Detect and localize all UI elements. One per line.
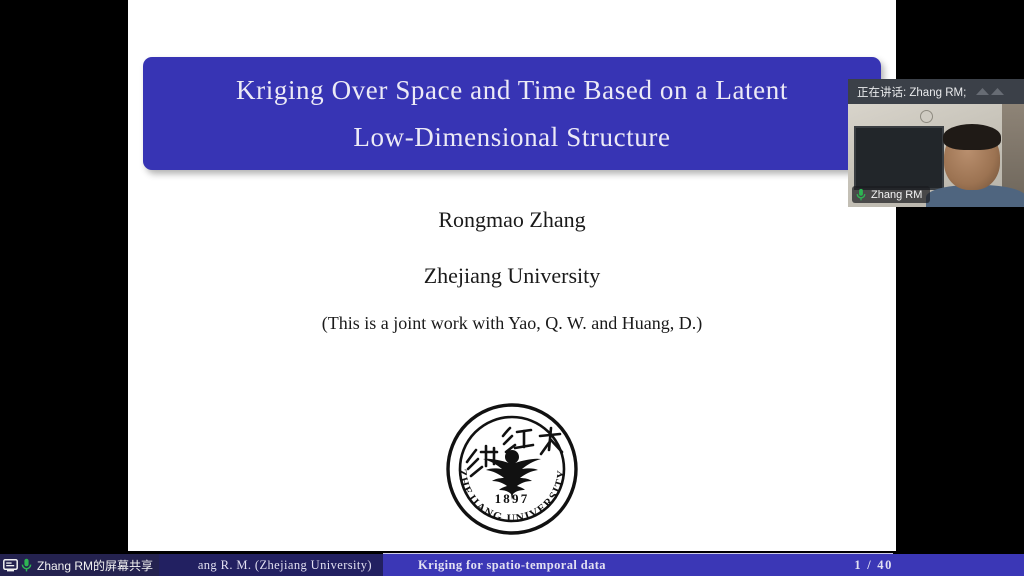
logo-year: 1897 bbox=[495, 491, 530, 506]
microphone-icon bbox=[21, 558, 32, 572]
chevron-collapse-icon[interactable] bbox=[974, 85, 1008, 98]
slide-affiliation: Zhejiang University bbox=[128, 263, 896, 289]
screen-share-banner[interactable]: Zhang RM的屏幕共享 bbox=[0, 554, 159, 576]
slide-title-line-2: Low-Dimensional Structure bbox=[353, 114, 670, 161]
footer-page-separator: / bbox=[867, 558, 872, 573]
whiteboard bbox=[854, 126, 944, 190]
participant-name-badge: Zhang RM bbox=[852, 186, 930, 203]
microphone-icon bbox=[856, 188, 866, 201]
slide-title-banner: Kriging Over Space and Time Based on a L… bbox=[143, 57, 881, 170]
active-speaker-label: 正在讲话: Zhang RM; bbox=[857, 84, 966, 100]
wall-clock bbox=[920, 110, 933, 123]
screen-share-viewport: Kriging Over Space and Time Based on a L… bbox=[0, 0, 1024, 576]
footer-talk-title: Kriging for spatio-temporal data bbox=[383, 554, 641, 576]
participant-name: Zhang RM bbox=[871, 189, 922, 201]
participant-video-feed[interactable]: Zhang RM bbox=[848, 104, 1024, 207]
zoom-video-thumbnail[interactable]: 正在讲话: Zhang RM; bbox=[848, 79, 1024, 207]
participant-hair bbox=[943, 124, 1001, 150]
slide-title-line-1: Kriging Over Space and Time Based on a L… bbox=[236, 67, 788, 114]
footer-page-current: 1 bbox=[854, 558, 862, 573]
share-banner-label: Zhang RM的屏幕共享 bbox=[35, 557, 153, 574]
active-speaker-header[interactable]: 正在讲话: Zhang RM; bbox=[848, 79, 1024, 104]
screen-share-icon bbox=[3, 559, 18, 572]
slide-joint-work-note: (This is a joint work with Yao, Q. W. an… bbox=[128, 313, 896, 334]
footer-page-indicator: 1 / 40 bbox=[641, 554, 1024, 576]
footer-page-total: 40 bbox=[877, 558, 893, 573]
presentation-slide: Kriging Over Space and Time Based on a L… bbox=[128, 0, 896, 551]
slide-author: Rongmao Zhang bbox=[128, 207, 896, 233]
zhejiang-university-logo-icon: 1897 ZHEJIANG UNIVERSITY bbox=[441, 398, 583, 540]
